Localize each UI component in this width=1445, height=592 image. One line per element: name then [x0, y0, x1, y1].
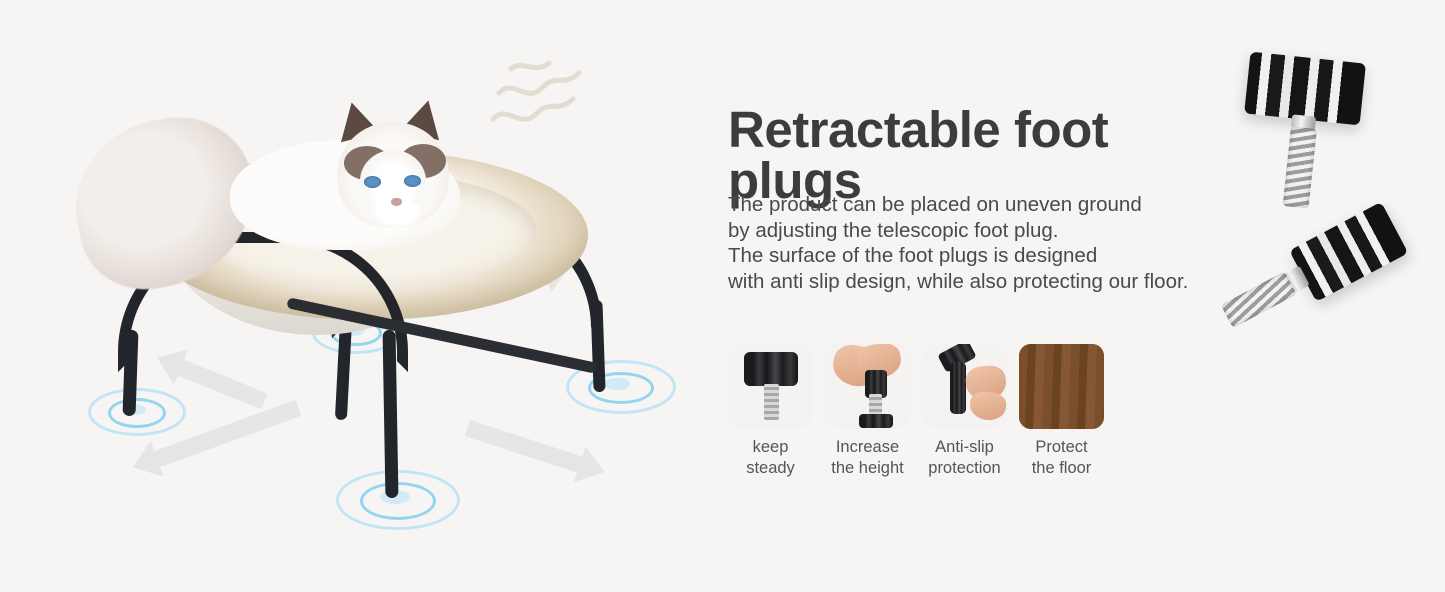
wood-floor-icon [1019, 344, 1104, 429]
feature-caption: Protect the floor [1019, 437, 1104, 479]
sonar-core-back-right [604, 378, 630, 390]
feature-caption-line1: Anti-slip [922, 437, 1007, 458]
page-title: Retractable foot plugs [728, 104, 1248, 206]
feature-caption: Increase the height [825, 437, 910, 479]
feature-caption-line2: the floor [1019, 458, 1104, 479]
feature-caption-line2: the height [825, 458, 910, 479]
feature-caption-line1: Increase [825, 437, 910, 458]
content-column: Retractable foot plugs The product can b… [728, 0, 1248, 592]
feature-caption-line1: Protect [1019, 437, 1104, 458]
cat-eye-right [404, 175, 421, 187]
cat-nose [391, 198, 402, 206]
description-line-2: by adjusting the telescopic foot plug. [728, 218, 1248, 244]
feature-caption: keep steady [728, 437, 813, 479]
cat-eye-left [364, 176, 381, 188]
feature-caption: Anti-slip protection [922, 437, 1007, 479]
feature-keep-steady: keep steady [728, 344, 813, 479]
feature-anti-slip: Anti-slip protection [922, 344, 1007, 479]
sleep-squiggle-icon [487, 55, 587, 135]
description-line-4: with anti slip design, while also protec… [728, 269, 1248, 295]
description-paragraph: The product can be placed on uneven grou… [728, 192, 1248, 294]
description-line-1: The product can be placed on uneven grou… [728, 192, 1248, 218]
retractable-foot-plug-bottom [1216, 194, 1441, 402]
feature-protect-floor: Protect the floor [1019, 344, 1104, 479]
product-feature-banner: Retractable foot plugs The product can b… [0, 0, 1445, 592]
hand-anti-slip-plug-icon [922, 344, 1007, 429]
hand-adjusting-plug-icon [825, 344, 910, 429]
foot-plug-icon [728, 344, 813, 429]
product-scene [0, 0, 700, 592]
frame-leg-back-right [590, 300, 605, 392]
feature-icon-row: keep steady Increase the height [728, 344, 1104, 479]
feature-caption-line2: steady [728, 458, 813, 479]
feature-increase-height: Increase the height [825, 344, 910, 479]
feature-caption-line2: protection [922, 458, 1007, 479]
feature-caption-line1: keep [728, 437, 813, 458]
description-line-3: The surface of the foot plugs is designe… [728, 243, 1248, 269]
